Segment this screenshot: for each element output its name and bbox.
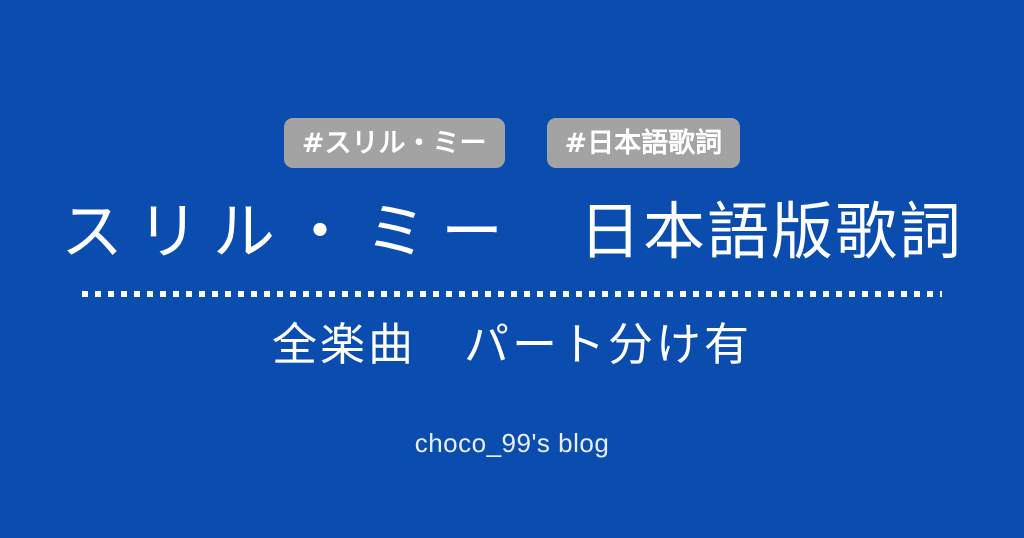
tag-pill-thrill-me[interactable]: #スリル・ミー xyxy=(284,118,505,168)
dotted-divider xyxy=(82,291,942,297)
title-segment-descriptor: 日本語版歌詞 xyxy=(579,195,963,268)
subtitle-text: 全楽曲 パート分け有 xyxy=(0,318,1024,372)
blog-name: choco_99's blog xyxy=(0,428,1024,459)
title-segment-space xyxy=(517,195,579,268)
tag-pill-japanese-lyrics[interactable]: #日本語歌詞 xyxy=(547,118,741,168)
blog-header-banner: #スリル・ミー #日本語歌詞 スリル・ミー 日本語版歌詞 全楽曲 パート分け有 … xyxy=(0,0,1024,538)
title-segment-work: スリル・ミー xyxy=(61,195,517,268)
tag-label: #日本語歌詞 xyxy=(565,130,723,157)
tag-label: #スリル・ミー xyxy=(302,130,487,157)
title-line: スリル・ミー 日本語版歌詞 xyxy=(0,196,1024,267)
tag-list: #スリル・ミー #日本語歌詞 xyxy=(0,118,1024,168)
blog-credit: choco_99's blog xyxy=(0,428,1024,459)
page-subtitle: 全楽曲 パート分け有 xyxy=(0,318,1024,372)
page-title: スリル・ミー 日本語版歌詞 xyxy=(0,196,1024,267)
